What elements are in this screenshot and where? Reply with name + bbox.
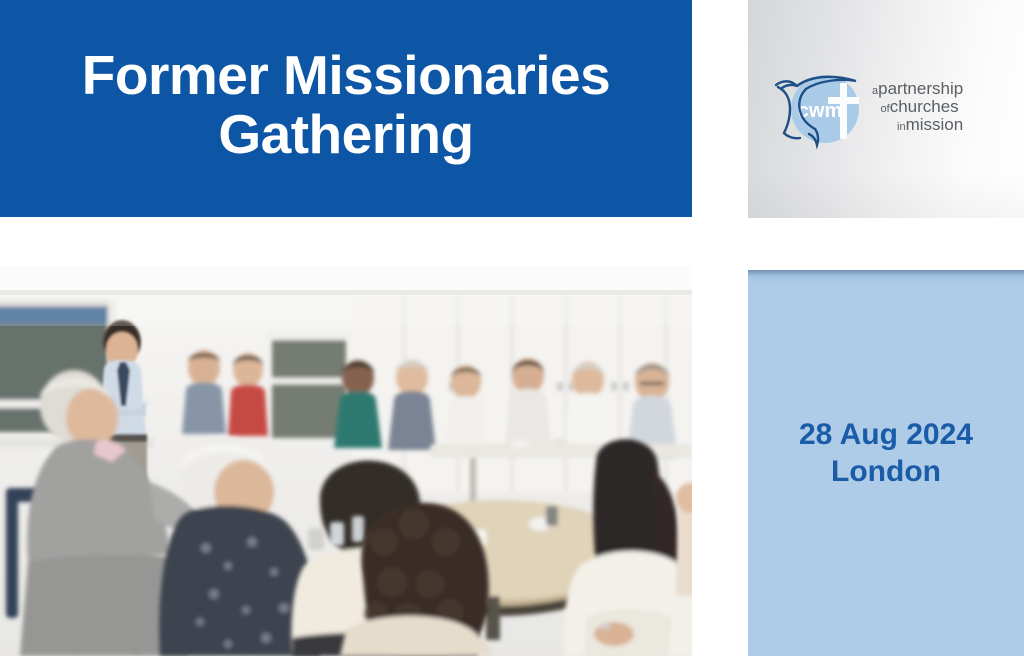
cwm-logo-mark-icon: cwm xyxy=(770,57,870,157)
logo-panel: cwm apartnership ofchurches xyxy=(748,0,1024,218)
event-photo xyxy=(0,266,692,656)
tagline-article-in: in xyxy=(897,121,906,133)
title-banner: Former Missionaries Gathering xyxy=(0,0,692,217)
event-photo-illustration xyxy=(0,266,692,656)
tagline-word-partnership: partnership xyxy=(878,79,963,98)
page-title: Former Missionaries Gathering xyxy=(82,46,610,163)
event-details-panel: 28 Aug 2024 London xyxy=(748,270,1024,656)
logo-tagline: apartnership ofchurches inmission xyxy=(872,80,963,135)
tagline-article-of: of xyxy=(881,103,890,115)
tagline-word-mission: mission xyxy=(906,115,964,134)
event-date-location: 28 Aug 2024 London xyxy=(799,417,973,490)
cwm-logo: cwm apartnership ofchurches xyxy=(770,52,1010,162)
slide-canvas: Former Missionaries Gathering cwm xyxy=(0,0,1024,656)
tagline-word-churches: churches xyxy=(890,97,959,116)
